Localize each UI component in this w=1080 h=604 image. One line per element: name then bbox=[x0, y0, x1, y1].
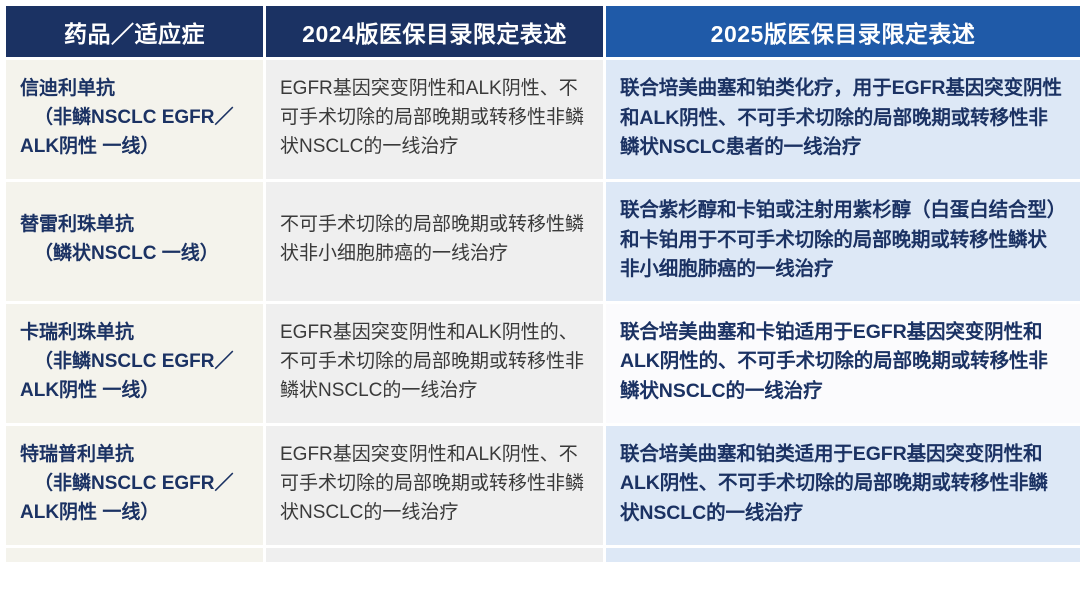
cell-catalog-2024: EGFR基因突变阴性和ALK阴性的、不可手术切除的局部晚期或转移性非鳞状NSCL… bbox=[266, 304, 606, 426]
table-row: 信迪利单抗 （非鳞NSCLC EGFR／ALK阴性 一线） EGFR基因突变阴性… bbox=[6, 60, 1080, 182]
cell-catalog-2025: 联合培美曲塞和铂类化疗，用于EGFR基因突变阴性和ALK阴性、不可手术切除的局部… bbox=[606, 60, 1080, 182]
drug-indication: （鳞状NSCLC 一线） bbox=[20, 240, 257, 269]
medical-insurance-catalog-comparison-table: 药品／适应症 2024版医保目录限定表述 2025版医保目录限定表述 信迪利单抗… bbox=[6, 6, 1080, 562]
cell-drug-indication: 替雷利珠单抗 （鳞状NSCLC 一线） bbox=[6, 182, 266, 304]
cell-drug-indication: 信迪利单抗 （非鳞NSCLC EGFR／ALK阴性 一线） bbox=[6, 60, 266, 182]
table-row: 替雷利珠单抗 （鳞状NSCLC 一线） 不可手术切除的局部晚期或转移性鳞状非小细… bbox=[6, 182, 1080, 304]
table-row-partial bbox=[6, 548, 1080, 562]
drug-name: 替雷利珠单抗 bbox=[20, 211, 257, 240]
cell-drug-indication: 卡瑞利珠单抗 （非鳞NSCLC EGFR／ALK阴性 一线） bbox=[6, 304, 266, 426]
cell-catalog-2024: 不可手术切除的局部晚期或转移性鳞状非小细胞肺癌的一线治疗 bbox=[266, 182, 606, 304]
cell-catalog-2025: 联合培美曲塞和铂类适用于EGFR基因突变阴性和ALK阴性、不可手术切除的局部晚期… bbox=[606, 426, 1080, 548]
drug-name: 卡瑞利珠单抗 bbox=[20, 319, 257, 348]
table-body: 信迪利单抗 （非鳞NSCLC EGFR／ALK阴性 一线） EGFR基因突变阴性… bbox=[6, 60, 1080, 562]
table-header: 药品／适应症 2024版医保目录限定表述 2025版医保目录限定表述 bbox=[6, 6, 1080, 60]
drug-indication: （非鳞NSCLC EGFR／ALK阴性 一线） bbox=[20, 348, 257, 406]
cell-catalog-2024: EGFR基因突变阴性和ALK阴性、不可手术切除的局部晚期或转移性非鳞状NSCLC… bbox=[266, 426, 606, 548]
cell-drug-indication: 特瑞普利单抗 （非鳞NSCLC EGFR／ALK阴性 一线） bbox=[6, 426, 266, 548]
header-row: 药品／适应症 2024版医保目录限定表述 2025版医保目录限定表述 bbox=[6, 6, 1080, 60]
drug-name: 信迪利单抗 bbox=[20, 75, 257, 104]
cell-drug-indication bbox=[6, 548, 266, 562]
column-header-catalog-2025: 2025版医保目录限定表述 bbox=[606, 6, 1080, 60]
cell-catalog-2025 bbox=[606, 548, 1080, 562]
drug-name: 特瑞普利单抗 bbox=[20, 441, 257, 470]
table-container: 药品／适应症 2024版医保目录限定表述 2025版医保目录限定表述 信迪利单抗… bbox=[0, 0, 1080, 604]
column-header-drug-indication: 药品／适应症 bbox=[6, 6, 266, 60]
drug-indication: （非鳞NSCLC EGFR／ALK阴性 一线） bbox=[20, 470, 257, 528]
cell-catalog-2025: 联合紫杉醇和卡铂或注射用紫杉醇（白蛋白结合型）和卡铂用于不可手术切除的局部晚期或… bbox=[606, 182, 1080, 304]
cell-catalog-2024: EGFR基因突变阴性和ALK阴性、不可手术切除的局部晚期或转移性非鳞状NSCLC… bbox=[266, 60, 606, 182]
drug-indication: （非鳞NSCLC EGFR／ALK阴性 一线） bbox=[20, 104, 257, 162]
cell-catalog-2024 bbox=[266, 548, 606, 562]
table-row: 卡瑞利珠单抗 （非鳞NSCLC EGFR／ALK阴性 一线） EGFR基因突变阴… bbox=[6, 304, 1080, 426]
cell-catalog-2025: 联合培美曲塞和卡铂适用于EGFR基因突变阴性和ALK阴性的、不可手术切除的局部晚… bbox=[606, 304, 1080, 426]
column-header-catalog-2024: 2024版医保目录限定表述 bbox=[266, 6, 606, 60]
table-row: 特瑞普利单抗 （非鳞NSCLC EGFR／ALK阴性 一线） EGFR基因突变阴… bbox=[6, 426, 1080, 548]
